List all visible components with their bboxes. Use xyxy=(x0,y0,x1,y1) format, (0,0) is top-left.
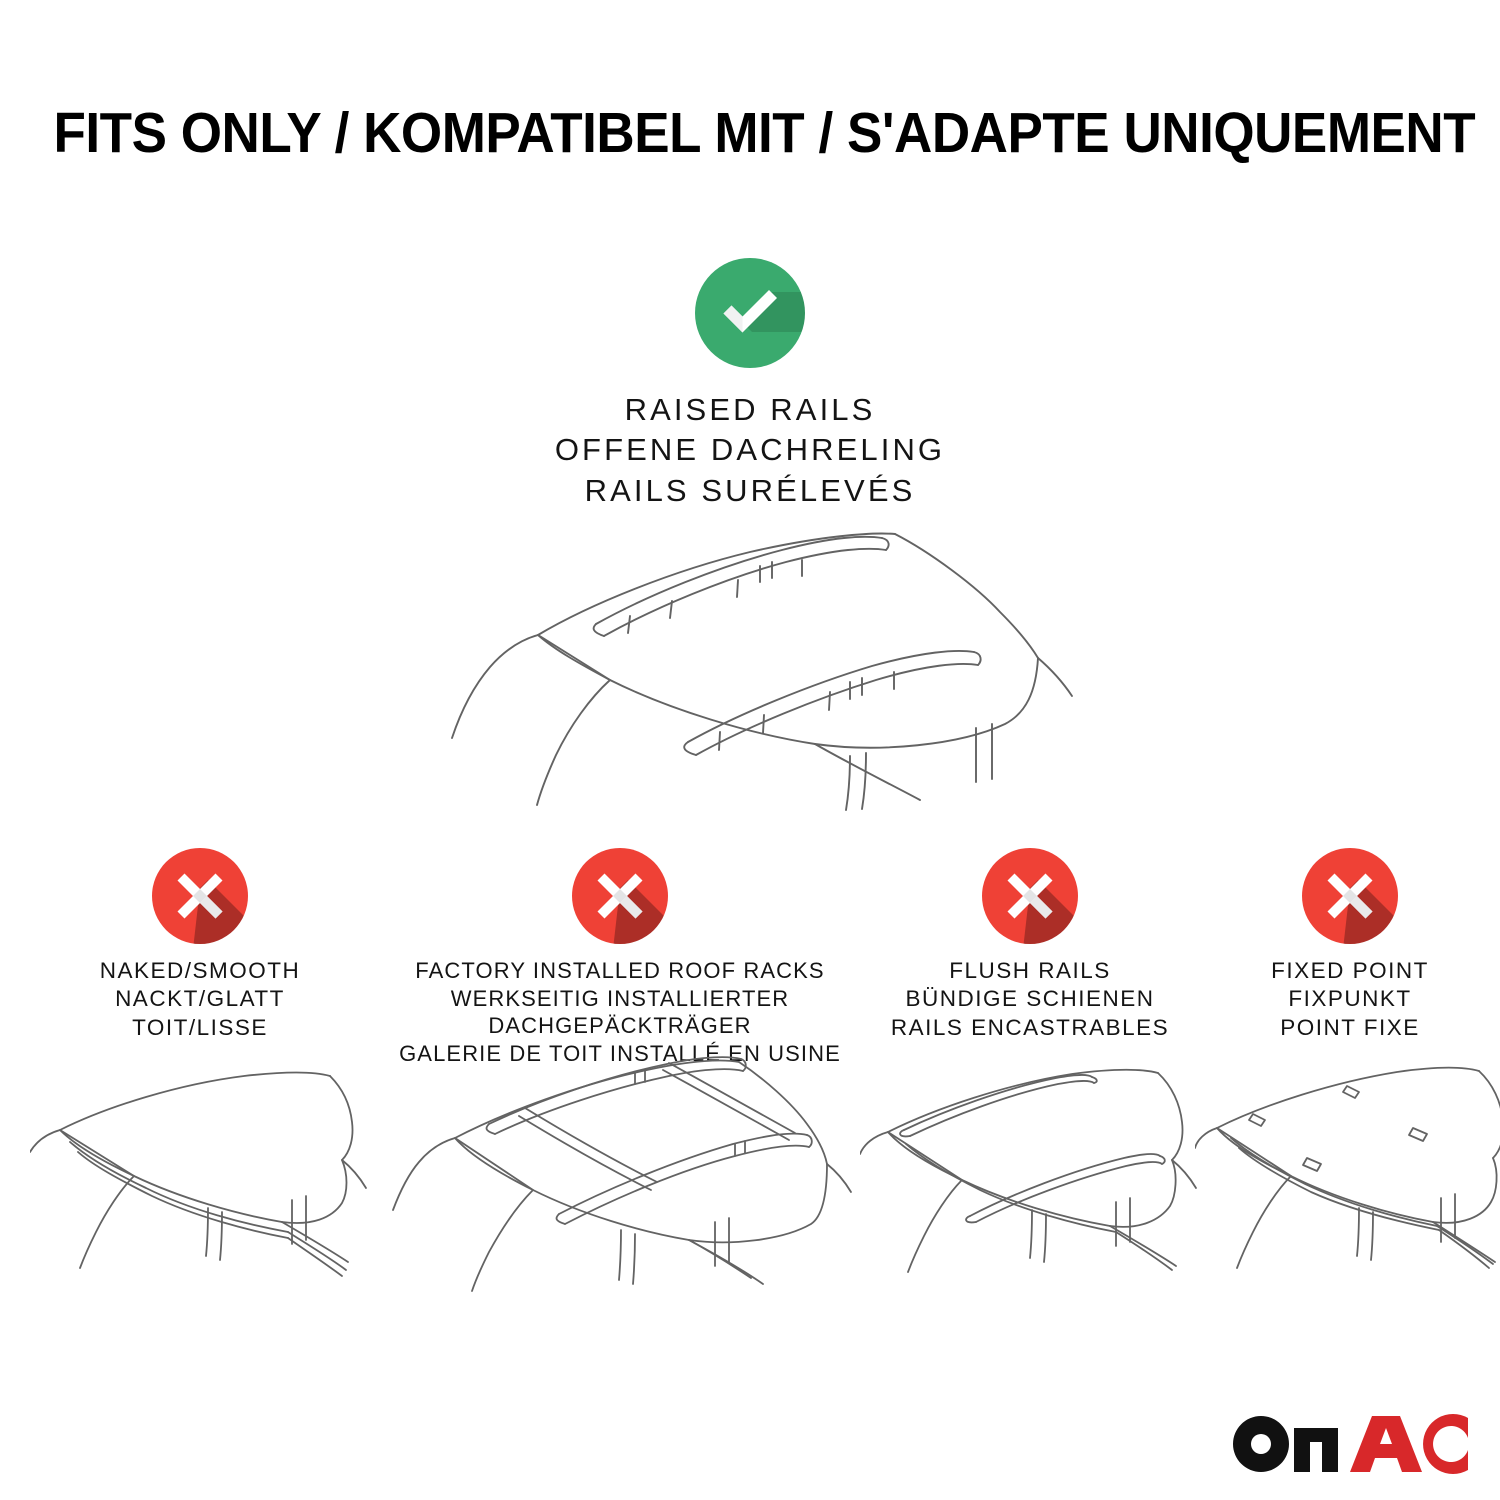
label-line-de: FIXPUNKT xyxy=(1205,985,1495,1013)
label-line-fr: POINT FIXE xyxy=(1205,1014,1495,1042)
car-roof-flush-rails-illustration xyxy=(860,1060,1200,1310)
label-line-de-1: WERKSEITIG INSTALLIERTER xyxy=(385,985,855,1013)
compatible-label: RAISED RAILS OFFENE DACHRELING RAILS SUR… xyxy=(0,390,1500,511)
omac-logo: OMAC xyxy=(1232,1414,1468,1474)
red-cross-icon xyxy=(152,848,248,944)
incompatible-item-flush-rails: FLUSH RAILS BÜNDIGE SCHIENEN RAILS ENCAS… xyxy=(860,848,1200,1042)
logo-letter-m xyxy=(1294,1428,1338,1472)
label-line-en: FACTORY INSTALLED ROOF RACKS xyxy=(385,957,855,985)
car-roof-fixed-point-illustration xyxy=(1195,1060,1500,1310)
red-cross-icon xyxy=(1302,848,1398,944)
red-cross-icon xyxy=(572,848,668,944)
compatible-label-line-fr: RAILS SURÉLEVÉS xyxy=(0,471,1500,511)
logo-letter-a xyxy=(1350,1416,1422,1472)
car-roof-raised-rails-illustration xyxy=(420,512,1080,812)
label-line-fr: TOIT/LISSE xyxy=(30,1014,370,1042)
label-line-de: NACKT/GLATT xyxy=(30,985,370,1013)
logo-letter-o xyxy=(1233,1416,1289,1472)
car-roof-factory-roof-racks-illustration xyxy=(385,1046,855,1296)
incompatible-item-factory-roof-racks: FACTORY INSTALLED ROOF RACKS WERKSEITIG … xyxy=(385,848,855,1068)
green-check-icon xyxy=(695,258,805,368)
compatible-section: RAISED RAILS OFFENE DACHRELING RAILS SUR… xyxy=(0,258,1500,511)
incompatible-label-flush-rails: FLUSH RAILS BÜNDIGE SCHIENEN RAILS ENCAS… xyxy=(860,957,1200,1042)
page-title: FITS ONLY / KOMPATIBEL MIT / S'ADAPTE UN… xyxy=(0,104,1500,164)
label-line-de: BÜNDIGE SCHIENEN xyxy=(860,985,1200,1013)
label-line-en: NAKED/SMOOTH xyxy=(30,957,370,985)
incompatible-item-fixed-point: FIXED POINT FIXPUNKT POINT FIXE xyxy=(1205,848,1495,1042)
incompatible-label-fixed-point: FIXED POINT FIXPUNKT POINT FIXE xyxy=(1205,957,1495,1042)
logo-wordmark: OMAC xyxy=(1232,1474,1233,1475)
red-cross-icon xyxy=(982,848,1078,944)
label-line-fr: RAILS ENCASTRABLES xyxy=(860,1014,1200,1042)
page-title-text: FITS ONLY / KOMPATIBEL MIT / S'ADAPTE UN… xyxy=(54,104,1476,164)
label-line-en: FLUSH RAILS xyxy=(860,957,1200,985)
label-line-de-2: DACHGEPÄCKTRÄGER xyxy=(385,1012,855,1040)
compatible-label-line-en: RAISED RAILS xyxy=(0,390,1500,430)
car-roof-naked-smooth-illustration xyxy=(30,1060,370,1310)
logo-letter-c xyxy=(1423,1414,1468,1474)
compatible-label-line-de: OFFENE DACHRELING xyxy=(0,430,1500,470)
incompatible-label-naked-smooth: NAKED/SMOOTH NACKT/GLATT TOIT/LISSE xyxy=(30,957,370,1042)
incompatible-item-naked-smooth: NAKED/SMOOTH NACKT/GLATT TOIT/LISSE xyxy=(30,848,370,1042)
label-line-en: FIXED POINT xyxy=(1205,957,1495,985)
incompatible-section: NAKED/SMOOTH NACKT/GLATT TOIT/LISSE xyxy=(0,848,1500,1308)
